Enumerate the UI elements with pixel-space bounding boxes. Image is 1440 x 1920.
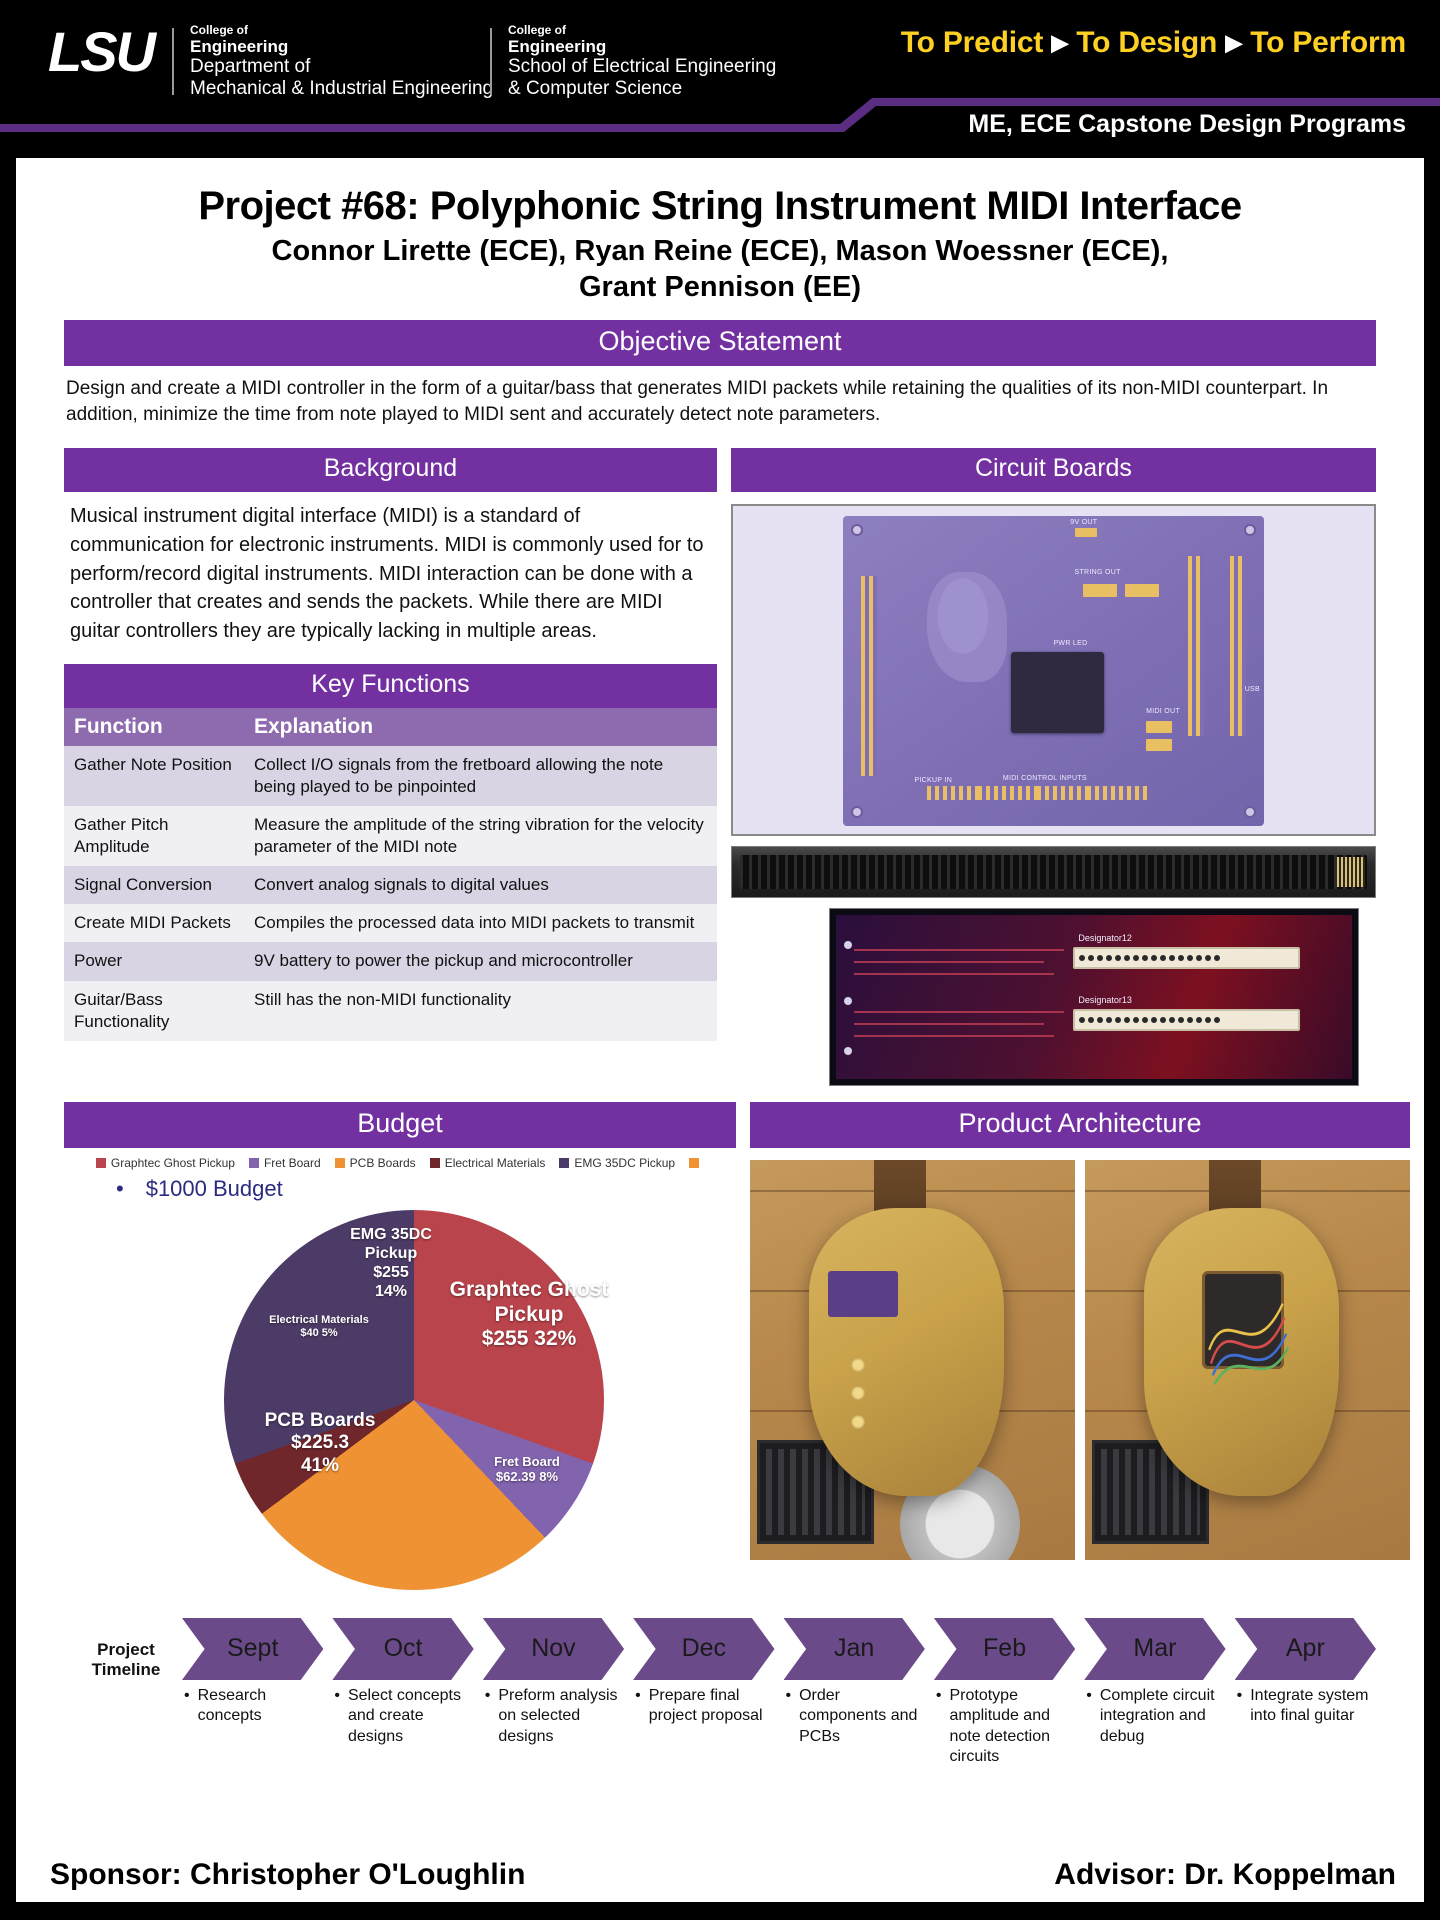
pcb-trace (854, 961, 1044, 963)
designator-label-12: Designator12 (1078, 933, 1132, 943)
objective-section: Objective Statement Design and create a … (64, 320, 1376, 428)
legend-item-graphtec: Graphtec Ghost Pickup (96, 1156, 235, 1170)
pad-dot (1205, 1017, 1211, 1023)
key-functions-section: Key Functions Function Explanation Gathe… (64, 664, 717, 1041)
timeline-chevron-jan[interactable]: Jan (784, 1618, 925, 1680)
timeline-notes-row: • Research concepts • Select concepts an… (182, 1686, 1376, 1768)
pad-dot (1196, 1017, 1202, 1023)
legend-swatch-icon (559, 1158, 569, 1168)
slice-label-fret-board: Fret Board $62.39 8% (462, 1454, 592, 1485)
timeline-label-line1: Project (78, 1640, 174, 1660)
left-column: Background Musical instrument digital in… (64, 448, 717, 1086)
me-engineering: Engineering (190, 37, 493, 56)
cell-explanation: Still has the non-MIDI functionality (244, 981, 717, 1041)
pad-dot (1079, 955, 1085, 961)
timeline-note-text: Preform analysis on selected designs (498, 1686, 624, 1768)
timeline-note-feb: • Prototype amplitude and note detection… (934, 1686, 1075, 1768)
slice-label-emg-pickup: EMG 35DC Pickup $255 14% (330, 1226, 452, 1302)
bullet-icon: • (116, 1176, 124, 1201)
pcb-label-pwr-led: PWR LED (1053, 640, 1087, 647)
pin-header-left (861, 576, 877, 776)
lsu-branding: LSU College of Engineering Department of… (48, 24, 493, 99)
pin-header-right-2 (1188, 556, 1204, 736)
header-divider-1 (172, 28, 174, 95)
bullet-icon: • (635, 1686, 641, 1768)
microcontroller-chip (1011, 652, 1104, 733)
pad-dot (1124, 1017, 1130, 1023)
timeline-note-text: Integrate system into final guitar (1250, 1686, 1376, 1768)
ece-branding: College of Engineering School of Electri… (490, 24, 776, 99)
mid-columns: Background Musical instrument digital in… (64, 448, 1376, 1086)
legend-label: PCB Boards (350, 1156, 416, 1170)
pad-dot (1187, 955, 1193, 961)
timeline-note-mar: • Complete circuit integration and debug (1084, 1686, 1225, 1768)
ece-engineering: Engineering (508, 37, 776, 56)
sponsor-label: Sponsor: Christopher O'Loughlin (50, 1858, 525, 1892)
fretboard-pcb-image: Designator12 (829, 908, 1359, 1086)
smd-pad (1146, 739, 1172, 751)
slice-value: $62.39 (496, 1469, 536, 1484)
pad-dot (1088, 1017, 1094, 1023)
triangle-right-icon-2: ▶ (1225, 30, 1242, 55)
cell-function: Signal Conversion (64, 866, 244, 904)
me-department-of: Department of (190, 56, 493, 77)
tagline-predict: To Predict (901, 26, 1043, 59)
author-line-1: Connor Lirette (ECE), Ryan Reine (ECE), … (136, 233, 1304, 269)
fretboard-pad-row-13 (1073, 1009, 1300, 1031)
lower-columns: Budget Graphtec Ghost Pickup Fret Board … (64, 1102, 1376, 1602)
guitar-back-photo (1085, 1160, 1410, 1560)
slice-value: $40 (300, 1327, 318, 1339)
right-column: Circuit Boards (731, 448, 1376, 1086)
slice-name: Electrical Materials (244, 1314, 394, 1327)
cell-function: Create MIDI Packets (64, 904, 244, 942)
me-department-block: College of Engineering Department of Mec… (190, 24, 493, 99)
pcb-label-9v-out: 9V OUT (1070, 519, 1097, 526)
table-row: Gather Note Position Collect I/O signals… (64, 746, 717, 806)
slice-value: $255 (330, 1264, 452, 1283)
pad-dot (1133, 955, 1139, 961)
pcb-substrate: 9V OUT STRING OUT MIDI OUT MIDI CONTROL … (843, 516, 1264, 826)
pcb-trace (854, 973, 1054, 975)
smd-pad (1083, 584, 1117, 597)
mounting-hole (1244, 806, 1256, 818)
legend-item-extra (689, 1156, 704, 1170)
cell-explanation: Compiles the processed data into MIDI pa… (244, 904, 717, 942)
tagline-perform: To Perform (1250, 26, 1406, 59)
budget-total-note: •$1000 Budget (116, 1176, 736, 1202)
control-knob (851, 1358, 865, 1372)
timeline-note-jan: • Order components and PCBs (784, 1686, 925, 1768)
table-row: Signal Conversion Convert analog signals… (64, 866, 717, 904)
budget-heading: Budget (64, 1102, 736, 1148)
main-pcb-image: 9V OUT STRING OUT MIDI OUT MIDI CONTROL … (731, 504, 1376, 836)
legend-item-pcb-boards: PCB Boards (335, 1156, 416, 1170)
budget-section: Budget Graphtec Ghost Pickup Fret Board … (64, 1102, 736, 1602)
slice-label-pcb-boards: PCB Boards $225.3 41% (250, 1410, 390, 1477)
bullet-icon: • (1237, 1686, 1243, 1768)
pad-dot (1214, 1017, 1220, 1023)
budget-total-label: $1000 Budget (146, 1176, 283, 1201)
architecture-heading: Product Architecture (750, 1102, 1410, 1148)
table-row: Guitar/Bass Functionality Still has the … (64, 981, 717, 1041)
pad-dot (1133, 1017, 1139, 1023)
project-timeline: Project Timeline Sept Oct Nov Dec Jan Fe… (64, 1618, 1376, 1768)
author-list: Connor Lirette (ECE), Ryan Reine (ECE), … (16, 233, 1424, 306)
pad-dot (1097, 955, 1103, 961)
legend-item-fret-board: Fret Board (249, 1156, 321, 1170)
pad-dot (1196, 955, 1202, 961)
legend-item-electrical-materials: Electrical Materials (430, 1156, 546, 1170)
pad-dot (1169, 1017, 1175, 1023)
tagline: To Predict ▶ To Design ▶ To Perform (901, 26, 1406, 60)
column-header-function: Function (64, 708, 244, 746)
pad-dot (1160, 955, 1166, 961)
slice-percent: 8% (539, 1469, 558, 1484)
timeline-note-sept: • Research concepts (182, 1686, 323, 1768)
guitar-front-photo (750, 1160, 1075, 1560)
pcb-label-string-out: STRING OUT (1075, 569, 1121, 576)
timeline-chevron-dec[interactable]: Dec (633, 1618, 774, 1680)
pcb-trace (854, 1011, 1064, 1013)
architecture-images (750, 1160, 1410, 1560)
pad-dot (1160, 1017, 1166, 1023)
timeline-note-dec: • Prepare final project proposal (633, 1686, 774, 1768)
pad-dot (1142, 1017, 1148, 1023)
guitar-body (809, 1208, 1004, 1496)
page-title: Project #68: Polyphonic String Instrumen… (16, 184, 1424, 229)
slice-value: $255 (482, 1327, 529, 1350)
legend-swatch-icon (249, 1158, 259, 1168)
column-header-explanation: Explanation (244, 708, 717, 746)
triangle-right-icon-1: ▶ (1051, 30, 1068, 55)
slice-name: EMG 35DC Pickup (330, 1226, 452, 1264)
pin-header-right (1230, 556, 1246, 736)
tagline-design: To Design (1076, 26, 1217, 59)
timeline-note-apr: • Integrate system into final guitar (1235, 1686, 1376, 1768)
pcb-trace (854, 949, 1064, 951)
legend-label: Fret Board (264, 1156, 321, 1170)
poster-sheet: Project #68: Polyphonic String Instrumen… (16, 158, 1424, 1902)
table-row: Power 9V battery to power the pickup and… (64, 942, 717, 980)
legend-label: Graphtec Ghost Pickup (111, 1156, 235, 1170)
timeline-note-text: Select concepts and create designs (348, 1686, 474, 1768)
slice-name: Graphtec Ghost Pickup (434, 1278, 624, 1328)
cell-explanation: Collect I/O signals from the fretboard a… (244, 746, 717, 806)
legend-swatch-icon (689, 1158, 699, 1168)
pad-dot (1214, 955, 1220, 961)
key-functions-heading: Key Functions (64, 664, 717, 708)
mounting-hole (1244, 524, 1256, 536)
budget-pie-chart: Graphtec Ghost Pickup $255 32% Fret Boar… (64, 1202, 736, 1602)
timeline-note-text: Research concepts (198, 1686, 324, 1768)
ece-school-of: School of Electrical Engineering (508, 56, 776, 77)
bullet-icon: • (936, 1686, 942, 1768)
timeline-chevron-nov[interactable]: Nov (483, 1618, 624, 1680)
timeline-note-oct: • Select concepts and create designs (332, 1686, 473, 1768)
pad-dot (1205, 955, 1211, 961)
cell-function: Power (64, 942, 244, 980)
chart-legend: Graphtec Ghost Pickup Fret Board PCB Boa… (64, 1156, 736, 1170)
ece-college-of: College of (508, 24, 776, 37)
tiger-silkscreen-icon (927, 572, 1007, 682)
fretboard-pcb-substrate: Designator12 (836, 915, 1352, 1079)
me-department-name: Mechanical & Industrial Engineering (190, 78, 493, 99)
poster-root: LSU College of Engineering Department of… (0, 0, 1440, 1920)
pad-dot (1151, 955, 1157, 961)
pad-dot (1115, 1017, 1121, 1023)
fret-strip-traces (740, 855, 1367, 889)
mounting-hole (851, 524, 863, 536)
timeline-note-text: Prototype amplitude and note detection c… (949, 1686, 1075, 1768)
circuit-boards-heading: Circuit Boards (731, 448, 1376, 492)
guitar-body (1144, 1208, 1339, 1496)
pad-dot (1178, 955, 1184, 961)
legend-swatch-icon (96, 1158, 106, 1168)
pcb-via (844, 1047, 852, 1055)
timeline-note-text: Order components and PCBs (799, 1686, 925, 1768)
capstone-program-title: ME, ECE Capstone Design Programs (968, 110, 1406, 139)
timeline-chevron-mar[interactable]: Mar (1084, 1618, 1225, 1680)
timeline-note-nov: • Preform analysis on selected designs (483, 1686, 624, 1768)
poster-footer: Sponsor: Christopher O'Loughlin Advisor:… (16, 1850, 1424, 1896)
bullet-icon: • (485, 1686, 491, 1768)
pad-dot (1151, 1017, 1157, 1023)
cell-function: Guitar/Bass Functionality (64, 981, 244, 1041)
slice-percent: 14% (330, 1283, 452, 1302)
background-heading: Background (64, 448, 717, 492)
pad-dot (1142, 955, 1148, 961)
legend-swatch-icon (430, 1158, 440, 1168)
slice-label-graphtec: Graphtec Ghost Pickup $255 32% (434, 1278, 624, 1352)
pad-dot (1106, 1017, 1112, 1023)
timeline-note-text: Complete circuit integration and debug (1100, 1686, 1226, 1768)
ece-school-name: & Computer Science (508, 78, 776, 99)
timeline-note-text: Prepare final project proposal (649, 1686, 775, 1768)
bullet-icon: • (184, 1686, 190, 1768)
timeline-chevron-row: Sept Oct Nov Dec Jan Feb Mar Apr (182, 1618, 1376, 1680)
pad-dot (1178, 1017, 1184, 1023)
pad-dot (1079, 1017, 1085, 1023)
header-divider-2 (490, 28, 492, 95)
legend-label: Electrical Materials (445, 1156, 546, 1170)
pad-dot (1115, 955, 1121, 961)
me-college-of: College of (190, 24, 493, 37)
timeline-chevron-apr[interactable]: Apr (1235, 1618, 1376, 1680)
advisor-label: Advisor: Dr. Koppelman (1054, 1858, 1396, 1892)
slice-percent: 32% (534, 1327, 576, 1350)
timeline-chevron-oct[interactable]: Oct (332, 1618, 473, 1680)
slice-name: Fret Board (462, 1454, 592, 1469)
pcb-label-usb: USB (1245, 686, 1260, 693)
pcb-via (844, 941, 852, 949)
legend-item-emg-pickup: EMG 35DC Pickup (559, 1156, 675, 1170)
legend-label: EMG 35DC Pickup (574, 1156, 675, 1170)
pad-dot (1106, 955, 1112, 961)
lsu-logo: LSU (48, 24, 172, 80)
slice-value-percent: $62.39 8% (462, 1469, 592, 1484)
smd-pad (1125, 584, 1159, 597)
timeline-chevron-feb[interactable]: Feb (934, 1618, 1075, 1680)
legend-swatch-icon (335, 1158, 345, 1168)
pcb-via (844, 997, 852, 1005)
connector-block (978, 786, 1038, 800)
slice-percent: 5% (322, 1327, 338, 1339)
objective-heading: Objective Statement (64, 320, 1376, 366)
smd-pad (1146, 721, 1172, 733)
poster-header: LSU College of Engineering Department of… (0, 0, 1440, 140)
pad-dot (1169, 955, 1175, 961)
fretboard-pad-row-12 (1073, 947, 1300, 969)
pcb-trace (854, 1023, 1044, 1025)
pcb-trace (854, 1035, 1054, 1037)
smd-pad (1075, 528, 1097, 537)
wiring-harness (1202, 1283, 1292, 1398)
cell-explanation: 9V battery to power the pickup and micro… (244, 942, 717, 980)
architecture-section: Product Architecture (750, 1102, 1410, 1602)
table-row: Create MIDI Packets Compiles the process… (64, 904, 717, 942)
control-knob (851, 1415, 865, 1429)
cell-function: Gather Note Position (64, 746, 244, 806)
slice-value: $225.3 (250, 1432, 390, 1454)
pickup-module (828, 1271, 898, 1317)
cell-explanation: Convert analog signals to digital values (244, 866, 717, 904)
pad-dot (1124, 955, 1130, 961)
slice-name: PCB Boards (250, 1410, 390, 1432)
background-text: Musical instrument digital interface (MI… (70, 502, 709, 646)
pad-dot (1187, 1017, 1193, 1023)
cell-function: Gather Pitch Amplitude (64, 806, 244, 866)
pad-dot (1097, 1017, 1103, 1023)
mounting-hole (851, 806, 863, 818)
author-line-2: Grant Pennison (EE) (136, 269, 1304, 305)
timeline-label: Project Timeline (78, 1640, 174, 1681)
slice-value-percent: $255 32% (434, 1327, 624, 1352)
slice-label-electrical-materials: Electrical Materials $40 5% (244, 1314, 394, 1340)
bullet-icon: • (1086, 1686, 1092, 1768)
fret-strip-image (731, 846, 1376, 898)
pcb-label-midi-out: MIDI OUT (1146, 708, 1180, 715)
fret-strip-connector (1337, 857, 1365, 887)
connector-block (1087, 786, 1147, 800)
table-row: Gather Pitch Amplitude Measure the ampli… (64, 806, 717, 866)
bullet-icon: • (786, 1686, 792, 1768)
cell-explanation: Measure the amplitude of the string vibr… (244, 806, 717, 866)
bullet-icon: • (334, 1686, 340, 1768)
timeline-chevron-sept[interactable]: Sept (182, 1618, 323, 1680)
table-header-row: Function Explanation (64, 708, 717, 746)
pad-dot (1088, 955, 1094, 961)
timeline-label-line2: Timeline (78, 1660, 174, 1680)
control-knob (851, 1386, 865, 1400)
pcb-label-midi-control-inputs: MIDI CONTROL INPUTS (1003, 775, 1087, 782)
objective-text: Design and create a MIDI controller in t… (66, 376, 1362, 428)
ece-department-block: College of Engineering School of Electri… (508, 24, 776, 99)
slice-value-percent: $40 5% (244, 1327, 394, 1340)
key-functions-table: Function Explanation Gather Note Positio… (64, 708, 717, 1041)
slice-percent: 41% (250, 1455, 390, 1477)
pcb-label-pickup-in: PICKUP IN (914, 777, 952, 784)
designator-label-13: Designator13 (1078, 995, 1132, 1005)
